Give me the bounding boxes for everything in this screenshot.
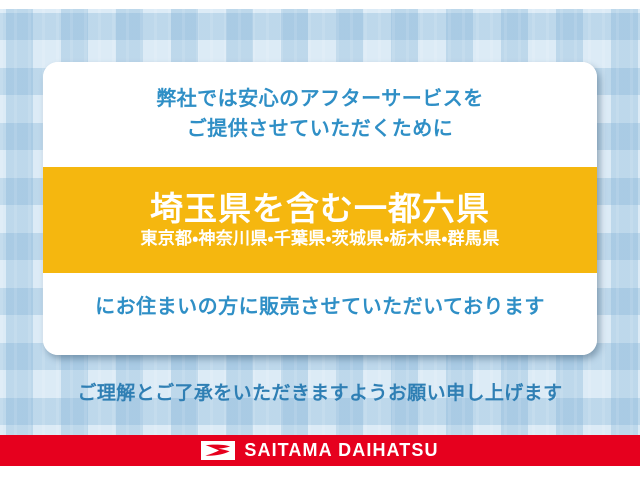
band-headline: 埼玉県を含む一都六県 bbox=[150, 191, 490, 227]
brand-footer: SAITAMA DAIHATSU bbox=[0, 435, 640, 466]
highlight-band: 埼玉県を含む一都六県 東京都・神奈川県・千葉県・茨城県・栃木県・群馬県 bbox=[43, 167, 597, 273]
card-outro-block: にお住まいの方に販売させていただいております bbox=[43, 273, 597, 355]
intro-line-1: 弊社では安心のアフターサービスを bbox=[156, 87, 484, 112]
outro-line: にお住まいの方に販売させていただいております bbox=[95, 295, 545, 320]
brand-name: SAITAMA DAIHATSU bbox=[244, 440, 438, 461]
notice-banner: 弊社では安心のアフターサービスを ご提供させていただくために 埼玉県を含む一都六… bbox=[0, 0, 640, 480]
band-prefectures-list: 東京都・神奈川県・千葉県・茨城県・栃木県・群馬県 bbox=[140, 229, 499, 249]
daihatsu-d-logo-icon bbox=[201, 441, 235, 460]
closing-note: ご理解とご了承をいただきますようお願い申し上げます bbox=[0, 378, 640, 405]
notice-card: 弊社では安心のアフターサービスを ご提供させていただくために 埼玉県を含む一都六… bbox=[43, 62, 597, 355]
card-intro-block: 弊社では安心のアフターサービスを ご提供させていただくために bbox=[43, 62, 597, 167]
intro-line-2: ご提供させていただくために bbox=[187, 117, 454, 142]
